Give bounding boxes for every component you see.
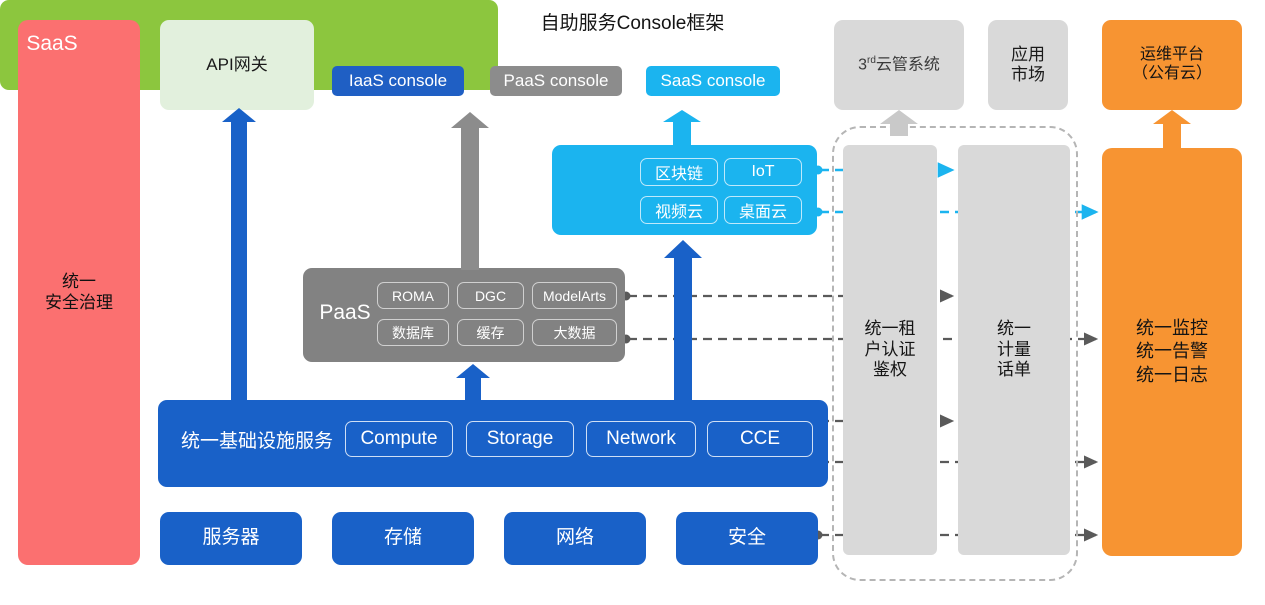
arrow-paas-to-console <box>451 112 489 270</box>
architecture-diagram: 统一 安全治理 API网关 自助服务Console框架 IaaS console… <box>0 0 1265 605</box>
arrow-infra-to-paas <box>456 364 490 400</box>
arrow-ops-column-to-ops-platform <box>1153 110 1191 148</box>
infra-service-cce[interactable]: CCE <box>707 421 813 457</box>
api-gateway-label: API网关 <box>206 55 267 75</box>
security-governance-panel: 统一 安全治理 <box>18 20 140 565</box>
third-party-cloud-superscript: rd <box>867 55 876 66</box>
hardware-security-label: 安全 <box>728 527 766 549</box>
saas-service-video-cloud-label: 视频云 <box>655 198 703 222</box>
saas-layer-label: SaaS <box>12 32 92 56</box>
infra-service-compute-label: Compute <box>360 428 437 450</box>
saas-console-label: SaaS console <box>661 71 766 91</box>
hardware-server-label: 服务器 <box>202 527 259 549</box>
infra-service-compute[interactable]: Compute <box>345 421 453 457</box>
paas-service-database-label: 数据库 <box>392 323 434 343</box>
paas-service-modelarts-label: ModelArts <box>543 288 606 304</box>
security-governance-label: 统一 安全治理 <box>45 272 113 312</box>
app-market-box: 应用 市场 <box>988 20 1068 110</box>
saas-console-button[interactable]: SaaS console <box>646 66 780 96</box>
infra-service-network-label: Network <box>606 428 676 450</box>
paas-service-dgc[interactable]: DGC <box>457 282 524 309</box>
paas-layer-label: PaaS <box>312 301 378 325</box>
paas-service-cache-label: 缓存 <box>477 323 505 343</box>
app-market-label: 应用 市场 <box>1011 45 1045 85</box>
infra-service-network[interactable]: Network <box>586 421 696 457</box>
third-party-cloud-label: 3rd云管系统 <box>858 55 940 75</box>
unified-monitoring-label: 统一监控 统一告警 统一日志 <box>1136 317 1208 387</box>
saas-service-blockchain[interactable]: 区块链 <box>640 158 718 186</box>
iaas-console-button[interactable]: IaaS console <box>332 66 464 96</box>
saas-service-iot-label: IoT <box>751 163 774 181</box>
unified-metering-billing-label: 统一 计量 话单 <box>997 319 1031 381</box>
unified-tenant-auth-label: 统一租 户认证 鉴权 <box>865 319 916 381</box>
infra-service-storage[interactable]: Storage <box>466 421 574 457</box>
unified-infrastructure-label: 统一基础设施服务 <box>172 426 342 453</box>
paas-console-label: PaaS console <box>504 71 609 91</box>
infra-service-cce-label: CCE <box>740 428 780 450</box>
ops-platform-label: 运维平台 （公有云） <box>1132 46 1212 84</box>
unified-monitoring-column: 统一监控 统一告警 统一日志 <box>1102 148 1242 556</box>
paas-service-cache[interactable]: 缓存 <box>457 319 524 346</box>
paas-service-roma[interactable]: ROMA <box>377 282 449 309</box>
paas-service-roma-label: ROMA <box>392 288 434 304</box>
console-framework-title: 自助服务Console框架 <box>0 8 1265 35</box>
paas-service-modelarts[interactable]: ModelArts <box>532 282 617 309</box>
third-party-cloud-number: 3 <box>858 56 867 73</box>
unified-metering-billing-column: 统一 计量 话单 <box>958 145 1070 555</box>
paas-service-bigdata-label: 大数据 <box>554 323 596 343</box>
arrow-infra-to-api-gateway <box>222 108 256 402</box>
ops-platform-public-cloud-box: 运维平台 （公有云） <box>1102 20 1242 110</box>
saas-service-blockchain-label: 区块链 <box>655 160 703 184</box>
iaas-console-label: IaaS console <box>349 71 447 91</box>
saas-service-video-cloud[interactable]: 视频云 <box>640 196 718 224</box>
third-party-cloud-suffix: 云管系统 <box>876 56 940 73</box>
paas-console-button[interactable]: PaaS console <box>490 66 622 96</box>
hardware-storage-box[interactable]: 存储 <box>332 512 474 565</box>
arrow-infra-to-saas <box>664 240 702 402</box>
saas-service-desktop-cloud-label: 桌面云 <box>739 198 787 222</box>
infra-service-storage-label: Storage <box>487 428 554 450</box>
hardware-storage-label: 存储 <box>384 527 422 549</box>
third-party-cloud-management-box: 3rd云管系统 <box>834 20 964 110</box>
arrow-saas-to-console <box>663 110 701 146</box>
hardware-server-box[interactable]: 服务器 <box>160 512 302 565</box>
hardware-security-box[interactable]: 安全 <box>676 512 818 565</box>
unified-tenant-auth-column: 统一租 户认证 鉴权 <box>843 145 937 555</box>
saas-service-iot[interactable]: IoT <box>724 158 802 186</box>
paas-service-bigdata[interactable]: 大数据 <box>532 319 617 346</box>
paas-service-dgc-label: DGC <box>475 288 506 304</box>
paas-service-database[interactable]: 数据库 <box>377 319 449 346</box>
hardware-network-box[interactable]: 网络 <box>504 512 646 565</box>
saas-service-desktop-cloud[interactable]: 桌面云 <box>724 196 802 224</box>
hardware-network-label: 网络 <box>556 527 594 549</box>
